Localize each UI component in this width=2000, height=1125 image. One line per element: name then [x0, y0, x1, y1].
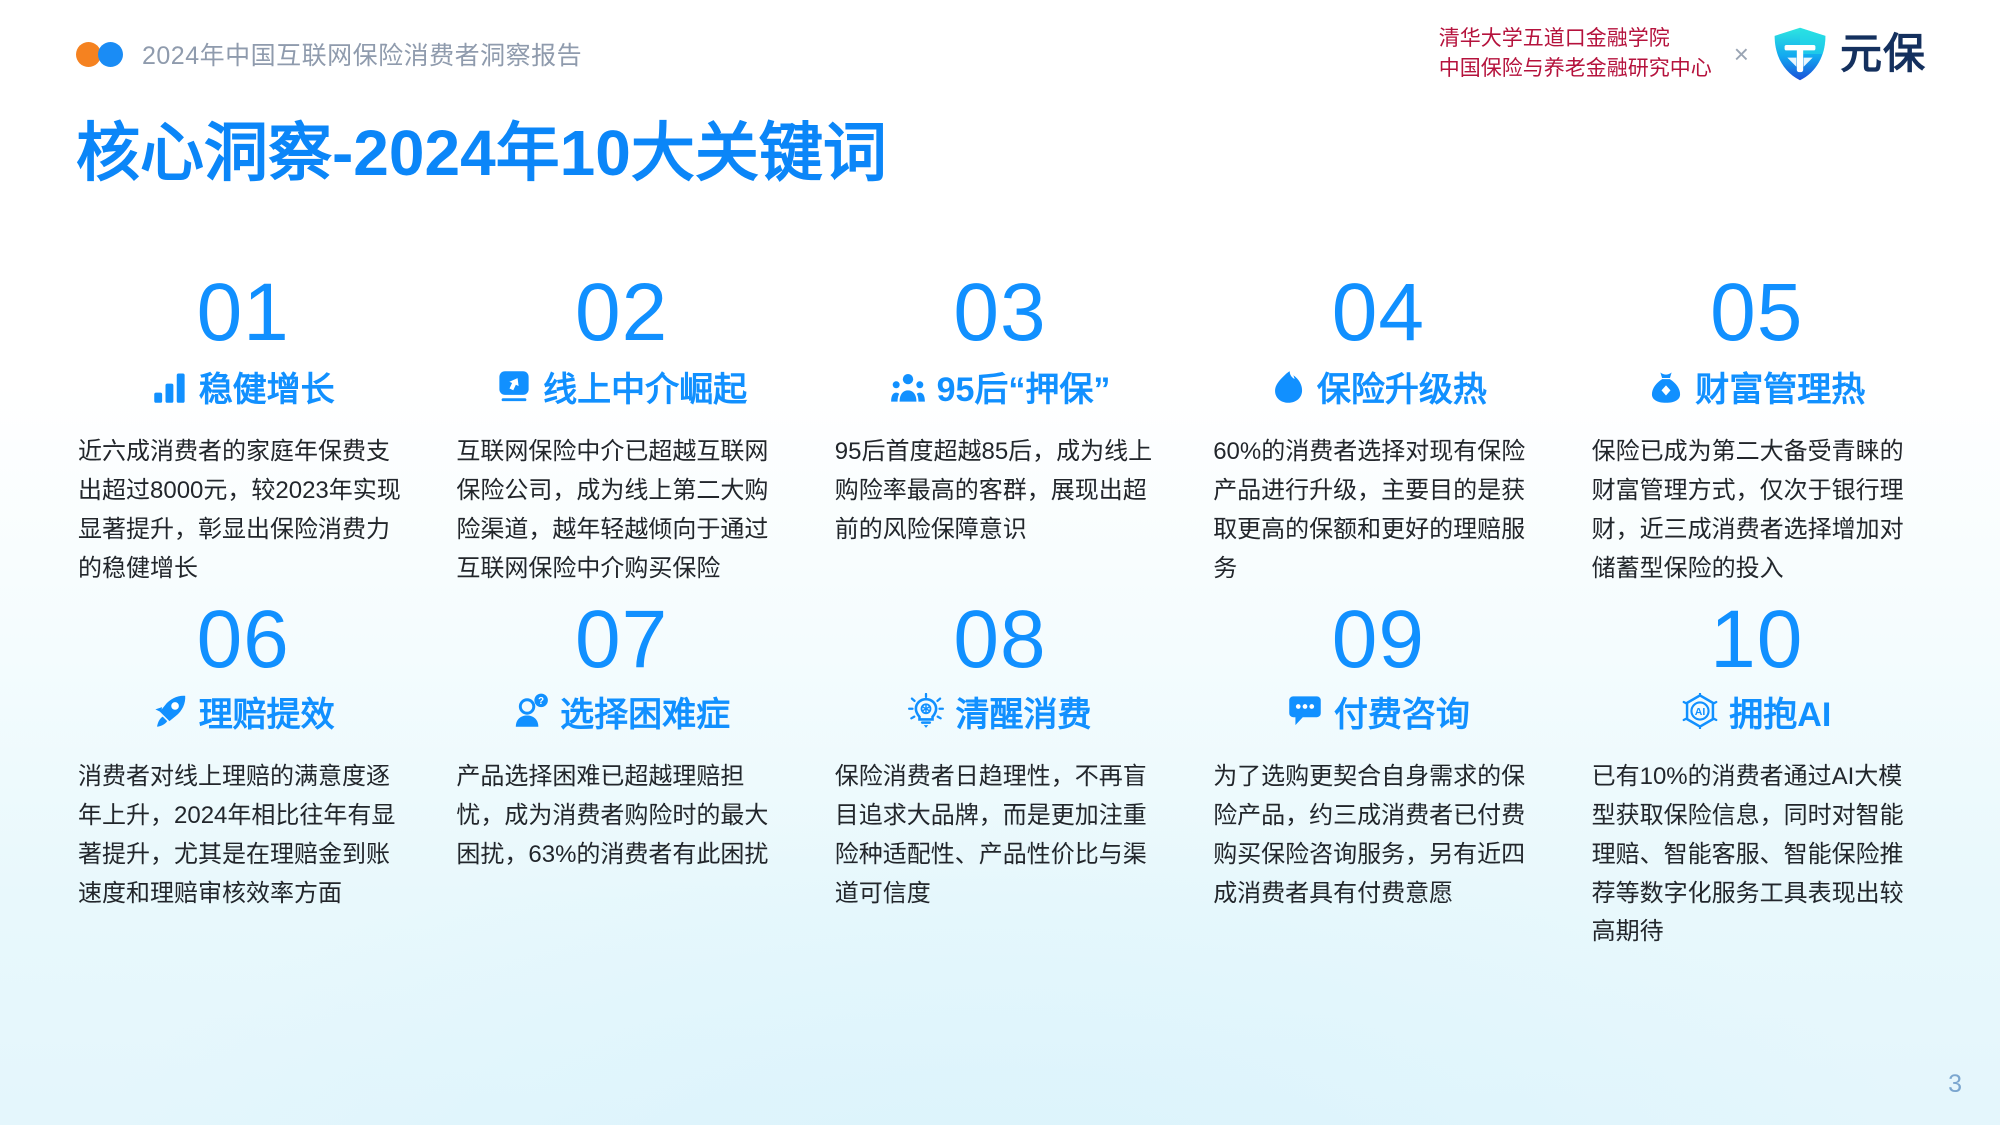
card-number: 10 — [1592, 595, 1922, 685]
keyword-card-08: 08 清醒消费 保险消费者日趋理性，不再盲目追求大品牌，而是更加注重险种适配性、… — [817, 595, 1183, 953]
card-keyword: 清醒消费 — [955, 687, 1091, 736]
card-number: 06 — [78, 595, 408, 685]
svg-text:AI: AI — [1695, 706, 1706, 718]
bar-chart-icon — [152, 369, 188, 405]
card-keyword: 稳健增长 — [199, 362, 335, 411]
card-heading: 清醒消费 — [835, 687, 1165, 736]
ai-badge-icon: AI — [1682, 693, 1718, 729]
page-number: 3 — [1948, 1070, 1962, 1099]
lightbulb-idea-icon — [908, 693, 944, 729]
card-keyword: 理赔提效 — [199, 687, 335, 736]
card-heading: 付费咨询 — [1213, 687, 1543, 736]
card-number: 04 — [1213, 268, 1543, 358]
card-keyword: 选择困难症 — [560, 687, 730, 736]
chat-bubble-icon — [1287, 693, 1323, 729]
card-number: 05 — [1592, 268, 1922, 358]
svg-text:?: ? — [538, 696, 544, 707]
keyword-grid: 01 稳健增长 近六成消费者的家庭年保费支出超过8000元，较2023年实现显著… — [60, 268, 1940, 952]
money-bag-icon — [1648, 369, 1684, 405]
person-question-icon: ? — [513, 693, 549, 729]
flame-icon — [1270, 369, 1306, 405]
card-description: 保险消费者日趋理性，不再盲目追求大品牌，而是更加注重险种适配性、产品性价比与渠道… — [835, 758, 1165, 914]
page-title: 核心洞察-2024年10大关键词 — [76, 118, 887, 188]
card-keyword: 财富管理热 — [1695, 362, 1865, 411]
card-heading: 95后“押保” — [835, 362, 1165, 411]
yuanbao-wordmark: 元保 — [1840, 33, 1926, 75]
card-heading: 保险升级热 — [1213, 362, 1543, 411]
slide-header: 2024年中国互联网保险消费者洞察报告 清华大学五道口金融学院 中国保险与养老金… — [0, 0, 2000, 108]
people-group-icon — [890, 369, 926, 405]
keyword-card-06: 06 理赔提效 消费者对线上理赔的满意度逐年上升，2024年相比往年有显著提升，… — [60, 595, 426, 953]
card-keyword: 拥抱AI — [1729, 687, 1831, 736]
keyword-card-04: 04 保险升级热 60%的消费者选择对现有保险产品进行升级，主要目的是获取更高的… — [1195, 268, 1561, 589]
report-title: 2024年中国互联网保险消费者洞察报告 — [142, 36, 582, 72]
keyword-card-09: 09 付费咨询 为了选购更契合自身需求的保险产品，约三成消费者已付费购买保险咨询… — [1195, 595, 1561, 953]
partner-university-line1: 清华大学五道口金融学院 — [1439, 24, 1712, 54]
card-heading: 理赔提效 — [78, 687, 408, 736]
card-number: 02 — [456, 268, 786, 358]
card-number: 08 — [835, 595, 1165, 685]
card-description: 近六成消费者的家庭年保费支出超过8000元，较2023年实现显著提升，彰显出保险… — [78, 433, 408, 589]
keyword-card-01: 01 稳健增长 近六成消费者的家庭年保费支出超过8000元，较2023年实现显著… — [60, 268, 426, 589]
card-description: 为了选购更契合自身需求的保险产品，约三成消费者已付费购买保险咨询服务，另有近四成… — [1213, 758, 1543, 914]
rocket-icon — [152, 693, 188, 729]
card-description: 互联网保险中介已超越互联网保险公司，成为线上第二大购险渠道，越年轻越倾向于通过互… — [456, 433, 786, 589]
card-heading: ? 选择困难症 — [456, 687, 786, 736]
card-keyword: 付费咨询 — [1334, 687, 1470, 736]
card-heading: 线上中介崛起 — [456, 362, 786, 411]
card-description: 产品选择困难已超越理赔担忧，成为消费者购险时的最大困扰，63%的消费者有此困扰 — [456, 758, 786, 875]
card-number: 01 — [78, 268, 408, 358]
report-brandline: 2024年中国互联网保险消费者洞察报告 — [76, 36, 582, 72]
keyword-card-02: 02 线上中介崛起 互联网保险中介已超越互联网保险公司，成为线上第二大购险渠道，… — [438, 268, 804, 589]
card-keyword: 线上中介崛起 — [543, 362, 747, 411]
card-heading: 财富管理热 — [1592, 362, 1922, 411]
arrow-up-square-icon — [496, 369, 532, 405]
shield-icon — [1771, 25, 1829, 83]
card-number: 07 — [456, 595, 786, 685]
partner-university-line2: 中国保险与养老金融研究中心 — [1439, 54, 1712, 84]
slide-root: 2024年中国互联网保险消费者洞察报告 清华大学五道口金融学院 中国保险与养老金… — [0, 0, 2000, 1125]
card-keyword: 95后“押保” — [937, 362, 1111, 411]
logo-dots-icon — [76, 42, 124, 67]
card-number: 03 — [835, 268, 1165, 358]
partner-logos: 清华大学五道口金融学院 中国保险与养老金融研究中心 × — [1439, 24, 1926, 84]
keyword-card-05: 05 财富管理热 保险已成为第二大备受青睐的财富管理方式，仅次于银行理财，近三成… — [1574, 268, 1940, 589]
keyword-card-03: 03 95后“押保” 95后首度超越85后，成为线上购险率最高的客群，展现出超前… — [817, 268, 1183, 589]
card-number: 09 — [1213, 595, 1543, 685]
card-heading: 稳健增长 — [78, 362, 408, 411]
keyword-card-10: 10 AI 拥抱AI 已有10%的消费者通过AI大模型获取保险信息，同时对智能理… — [1574, 595, 1940, 953]
card-description: 95后首度超越85后，成为线上购险率最高的客群，展现出超前的风险保障意识 — [835, 433, 1165, 550]
card-description: 60%的消费者选择对现有保险产品进行升级，主要目的是获取更高的保额和更好的理赔服… — [1213, 433, 1543, 589]
card-description: 已有10%的消费者通过AI大模型获取保险信息，同时对智能理赔、智能客服、智能保险… — [1592, 758, 1922, 952]
partner-separator: × — [1734, 41, 1749, 67]
card-heading: AI 拥抱AI — [1592, 687, 1922, 736]
partner-university: 清华大学五道口金融学院 中国保险与养老金融研究中心 — [1439, 24, 1712, 84]
keyword-card-07: 07 ? 选择困难症 产品选择困难已超越理赔担忧，成为消费者购险时的最大困扰，6… — [438, 595, 804, 953]
card-keyword: 保险升级热 — [1317, 362, 1487, 411]
yuanbao-logo: 元保 — [1771, 25, 1926, 83]
card-description: 消费者对线上理赔的满意度逐年上升，2024年相比往年有显著提升，尤其是在理赔金到… — [78, 758, 408, 914]
card-description: 保险已成为第二大备受青睐的财富管理方式，仅次于银行理财，近三成消费者选择增加对储… — [1592, 433, 1922, 589]
